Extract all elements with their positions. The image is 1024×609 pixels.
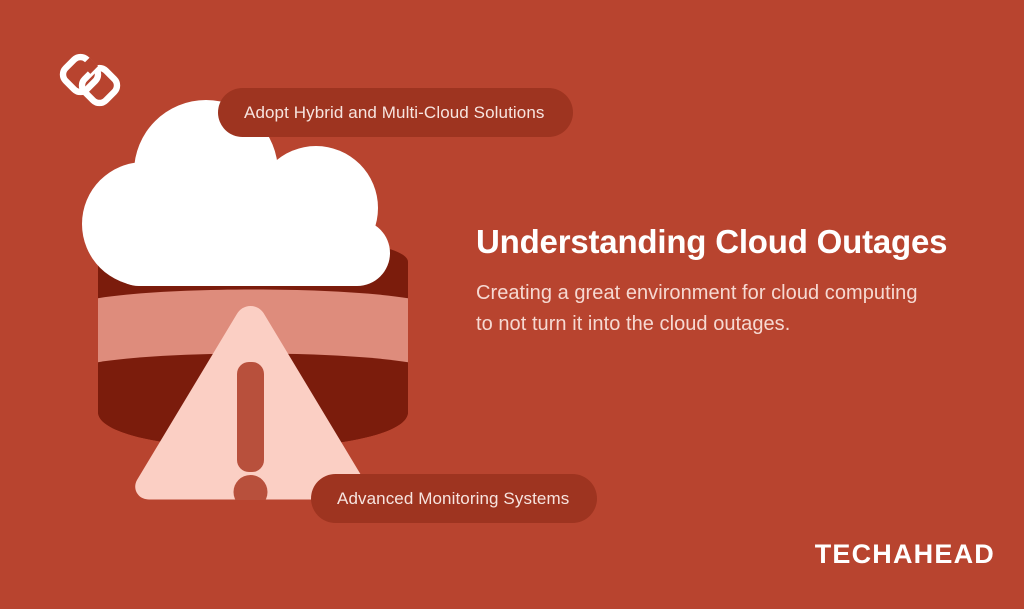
cloud-outage-illustration <box>0 0 470 540</box>
techahead-wordmark: TECHAHEAD <box>815 539 995 569</box>
page-subtitle: Creating a great environment for cloud c… <box>476 278 936 341</box>
page-title: Understanding Cloud Outages <box>476 222 976 262</box>
wordmark-text: TECHAHEAD <box>815 541 995 568</box>
infographic-canvas: Adopt Hybrid and Multi-Cloud Solutions A… <box>0 0 1024 609</box>
pill-advanced-monitoring[interactable]: Advanced Monitoring Systems <box>311 474 597 523</box>
warning-triangle-exclamation-icon <box>128 300 373 500</box>
pill-label: Advanced Monitoring Systems <box>337 489 569 509</box>
pill-adopt-hybrid-multicloud[interactable]: Adopt Hybrid and Multi-Cloud Solutions <box>218 88 573 137</box>
copy-block: Understanding Cloud Outages Creating a g… <box>476 222 976 341</box>
pill-label: Adopt Hybrid and Multi-Cloud Solutions <box>244 103 545 123</box>
